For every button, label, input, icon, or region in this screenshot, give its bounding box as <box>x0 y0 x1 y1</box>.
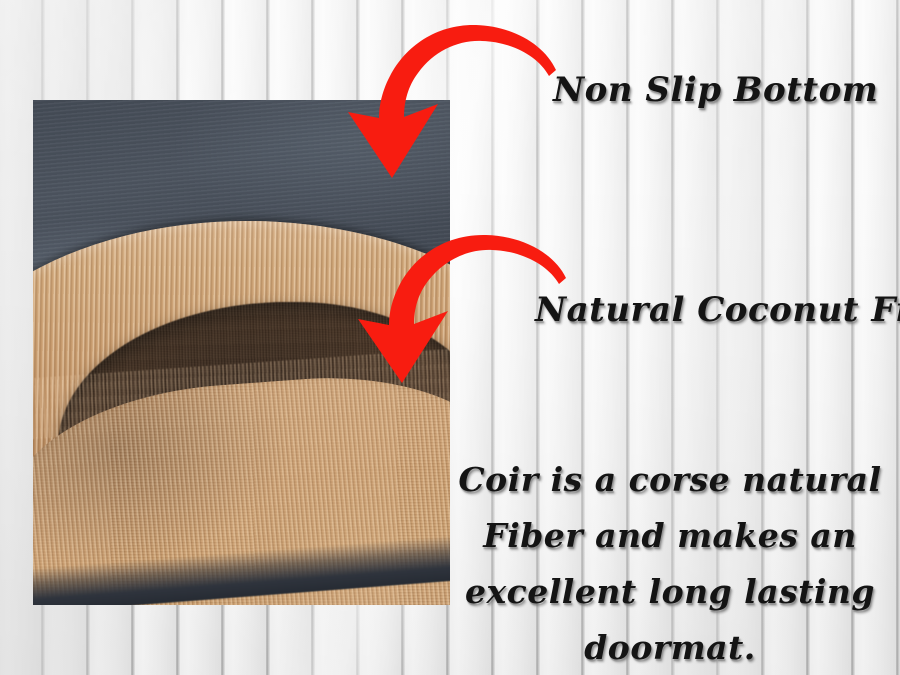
infographic-canvas: Non Slip Bottom Natural Coconut Fibers C… <box>0 0 900 675</box>
description-paragraph: Coir is a corse natural Fiber and makes … <box>452 452 888 675</box>
product-photo <box>33 100 450 605</box>
callout-non-slip-bottom: Non Slip Bottom <box>553 70 878 110</box>
callout-natural-coconut-fibers: Natural Coconut Fibers <box>535 290 900 330</box>
